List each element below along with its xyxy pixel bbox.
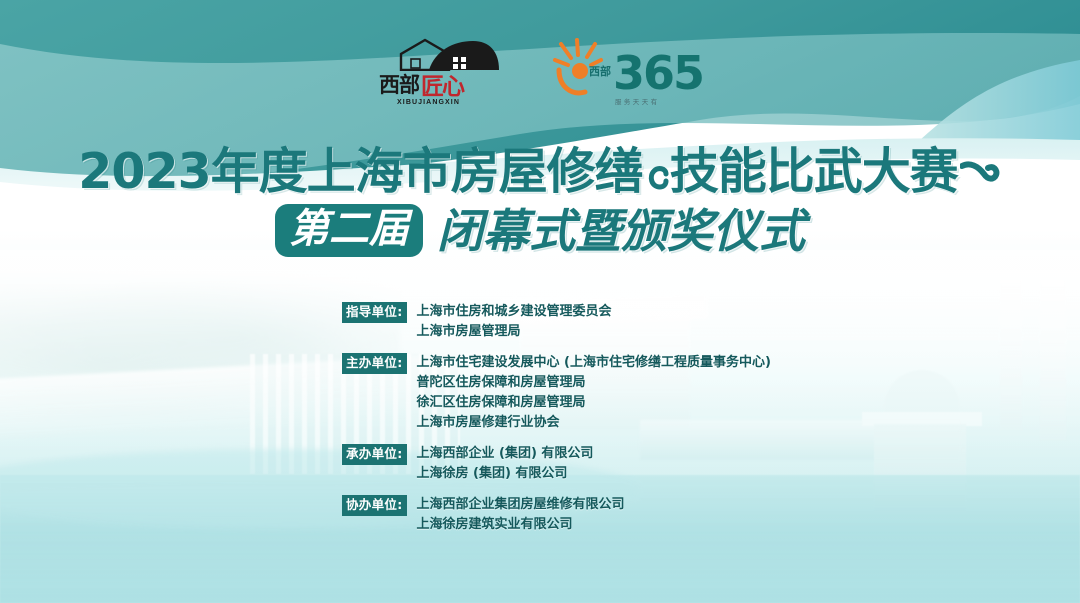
credit-name: 上海市房屋修建行业协会	[417, 414, 771, 431]
credit-name: 上海西部企业集团房屋维修有限公司	[417, 496, 625, 513]
logo-wordmark: 西部 匠心	[379, 67, 515, 101]
title-line-1-part-a: 2023年度上海市房屋修缮	[78, 144, 642, 200]
credit-name: 上海市住宅建设发展中心 (上海市住宅修缮工程质量事务中心)	[417, 354, 771, 371]
logo-365-brand-cn: 西部	[589, 66, 613, 77]
credit-names: 上海西部企业 (集团) 有限公司 上海徐房 (集团) 有限公司	[417, 444, 594, 482]
logo-row: 西部 匠心 XIBUJIANGXIN 西部	[0, 36, 1080, 112]
credit-group: 承办单位: 上海西部企业 (集团) 有限公司 上海徐房 (集团) 有限公司	[342, 444, 862, 482]
credit-name: 上海徐房建筑实业有限公司	[417, 516, 625, 533]
credit-group: 协办单位: 上海西部企业集团房屋维修有限公司 上海徐房建筑实业有限公司	[342, 495, 862, 533]
credit-name: 普陀区住房保障和房屋管理局	[417, 374, 771, 391]
house-roof-icon	[395, 37, 503, 71]
credit-tag: 指导单位:	[342, 302, 407, 323]
title-line-2: 第二届 闭幕式暨颁奖仪式	[275, 204, 805, 257]
logo-xibu-jiangxin: 西部 匠心 XIBUJIANGXIN	[379, 37, 515, 111]
edition-badge: 第二届	[275, 204, 423, 257]
credit-name: 徐汇区住房保障和房屋管理局	[417, 394, 771, 411]
credit-name: 上海市房屋管理局	[417, 323, 612, 340]
credit-tag: 协办单位:	[342, 495, 407, 516]
logo-xibu-365: 西部 365 服务天天有	[551, 38, 701, 110]
logo-365-number: 365	[613, 50, 703, 96]
title-line-1: 2023年度上海市房屋修缮 技能比武大赛	[78, 144, 1001, 200]
credit-tag: 主办单位:	[342, 353, 407, 374]
title-block: 2023年度上海市房屋修缮 技能比武大赛 第二届 闭幕式暨颁奖仪式	[0, 144, 1080, 257]
credit-names: 上海市住房和城乡建设管理委员会 上海市房屋管理局	[417, 302, 612, 340]
credit-name: 上海市住房和城乡建设管理委员会	[417, 303, 612, 320]
credit-name: 上海徐房 (集团) 有限公司	[417, 465, 594, 482]
credit-group: 主办单位: 上海市住宅建设发展中心 (上海市住宅修缮工程质量事务中心) 普陀区住…	[342, 353, 862, 431]
logo-name-cn: 西部	[379, 69, 419, 99]
wave-curl-flourish-icon	[960, 150, 1002, 194]
logo-name-jiangxin: 匠心	[421, 67, 463, 101]
credit-names: 上海西部企业集团房屋维修有限公司 上海徐房建筑实业有限公司	[417, 495, 625, 533]
logo-pinyin: XIBUJIANGXIN	[397, 99, 460, 106]
credit-group: 指导单位: 上海市住房和城乡建设管理委员会 上海市房屋管理局	[342, 302, 862, 340]
title-line-1-part-b: 技能比武大赛	[670, 144, 958, 200]
title-subtitle: 闭幕式暨颁奖仪式	[437, 205, 805, 257]
credit-tag: 承办单位:	[342, 444, 407, 465]
credit-name: 上海西部企业 (集团) 有限公司	[417, 445, 594, 462]
curl-flourish-icon	[645, 155, 669, 189]
poster-canvas: 西部 匠心 XIBUJIANGXIN 西部	[0, 0, 1080, 603]
logo-365-tagline: 服务天天有	[615, 96, 660, 106]
credits-list: 指导单位: 上海市住房和城乡建设管理委员会 上海市房屋管理局 主办单位: 上海市…	[342, 302, 862, 533]
credit-names: 上海市住宅建设发展中心 (上海市住宅修缮工程质量事务中心) 普陀区住房保障和房屋…	[417, 353, 771, 431]
